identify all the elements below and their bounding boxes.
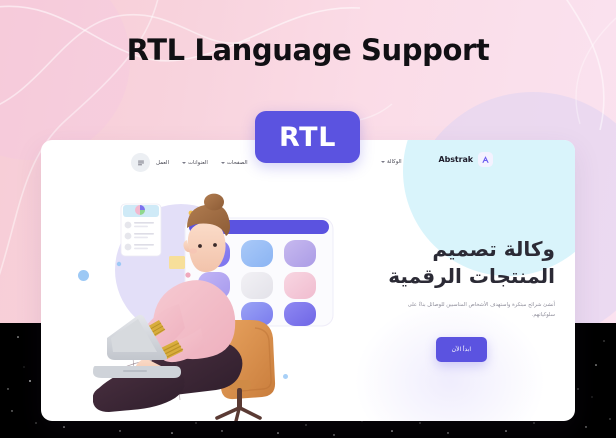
chevron-down-icon — [182, 162, 186, 164]
hamburger-icon[interactable] — [131, 153, 150, 172]
nav-link-headlines[interactable]: العنوانات — [182, 160, 208, 166]
website-preview-card: الصفحات العنوانات العمل الوكالة — [41, 140, 575, 421]
hero-paragraph: أنشئ شرائح مبتكرة واستهدف الأشخاص المناس… — [407, 301, 555, 321]
a-logo-icon — [478, 152, 493, 167]
nav-link-pages-label: الصفحات — [227, 160, 248, 166]
nav-link-work[interactable]: العمل — [156, 160, 169, 166]
hero-cta-button[interactable]: ابدأ الآن — [436, 337, 487, 362]
hero-heading: وكالة تصميم المنتجات الرقمية — [340, 236, 555, 290]
nav-link-agency[interactable]: الوكالة — [381, 159, 402, 165]
brand-logo[interactable]: Abstrak — [439, 152, 493, 167]
rtl-badge: RTL — [255, 111, 360, 163]
decor-blue-dot-large — [78, 270, 89, 281]
nav-link-headlines-label: العنوانات — [188, 160, 208, 166]
nav-link-work-label: العمل — [156, 160, 169, 166]
nav-link-agency-label: الوكالة — [387, 159, 402, 165]
brand-name: Abstrak — [439, 155, 473, 164]
hero-heading-line-2: المنتجات الرقمية — [340, 263, 555, 290]
screenshot-stage: RTL Language Support الصفحات العنوانات — [0, 0, 616, 438]
woman-working-on-laptop-illustration — [93, 188, 353, 421]
hero-text-block: وكالة تصميم المنتجات الرقمية أنشئ شرائح … — [340, 236, 555, 362]
hero-heading-line-1: وكالة تصميم — [340, 236, 555, 263]
chevron-down-icon — [221, 162, 225, 164]
background-pink-blob — [0, 0, 130, 160]
page-title: RTL Language Support — [0, 33, 616, 67]
chevron-down-icon — [381, 161, 385, 163]
nav-links: الصفحات العنوانات العمل — [156, 140, 248, 185]
nav-link-pages[interactable]: الصفحات — [221, 160, 248, 166]
